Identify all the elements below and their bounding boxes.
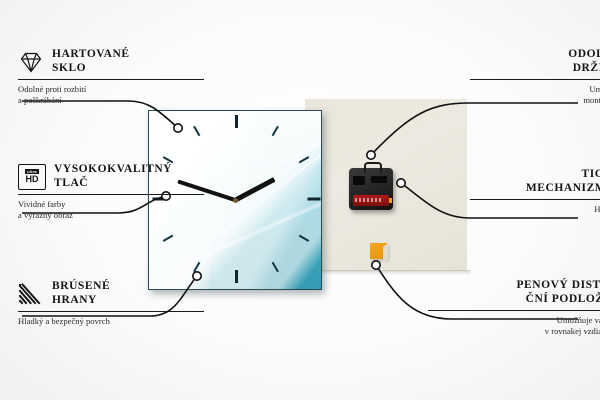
feature-title: ODOLNÝ DRŽIAK: [568, 48, 600, 75]
divider: [18, 79, 204, 80]
clock-tick: [308, 198, 321, 201]
divider: [18, 194, 204, 195]
mechanism-slot: [371, 176, 387, 183]
feature-durable-holder: ODOLNÝ DRŽIAK Umožňuje snadnou montáž ho…: [470, 48, 600, 106]
clock-tick: [235, 115, 238, 128]
feature-title: TICHÝ MECHANIZMUS: [526, 168, 600, 195]
feature-description: Hodinové ručičky bez zvuku: [470, 204, 600, 226]
ultra-hd-icon: ultra HD: [18, 164, 46, 190]
feature-header: PENOVÝ DISTAN- ČNÍ PODLOŽKY: [428, 279, 600, 306]
feature-header: HARTOVANÉ SKLO: [18, 48, 204, 75]
feature-tempered-glass: HARTOVANÉ SKLO Odolné proti rozbití a po…: [18, 48, 204, 106]
feature-polished-edges: BRÚSENÉ HRANY Hladký a bezpečný povrch: [18, 280, 204, 327]
feature-silent-mechanism: TICHÝ MECHANIZMUS Hodinové ručičky bez z…: [470, 168, 600, 226]
diagonal-stripes-icon: [18, 282, 44, 306]
feature-header: BRÚSENÉ HRANY: [18, 280, 204, 307]
feature-high-quality-print: ultra HD VYSOKOKVALITNÝ TLAČ Vividné far…: [18, 163, 204, 221]
feature-title: PENOVÝ DISTAN- ČNÍ PODLOŽKY: [516, 279, 600, 306]
aa-battery: [353, 195, 389, 206]
feature-description: Umožňuje vám držať hodiny v rovnakej vzd…: [428, 315, 600, 337]
feature-title: VYSOKOKVALITNÝ TLAČ: [54, 163, 172, 190]
divider: [428, 310, 600, 311]
feature-title: BRÚSENÉ HRANY: [52, 280, 110, 307]
divider: [18, 311, 204, 312]
feature-description: Hladký a bezpečný povrch: [18, 316, 204, 327]
diamond-icon: [18, 50, 44, 74]
feature-foam-spacers: PENOVÝ DISTAN- ČNÍ PODLOŽKY Umožňuje vám…: [428, 279, 600, 337]
clock-center-pin: [233, 198, 238, 203]
clock-tick: [235, 270, 238, 283]
mechanism-slot: [353, 176, 365, 185]
mechanism-hook: [364, 162, 382, 173]
feature-description: Odolné proti rozbití a poškrábání: [18, 84, 204, 106]
battery-label: [355, 198, 383, 202]
feature-header: ultra HD VYSOKOKVALITNÝ TLAČ: [18, 163, 204, 190]
divider: [470, 79, 600, 80]
feature-header: TICHÝ MECHANIZMUS: [470, 168, 600, 195]
clock-mechanism: [349, 168, 393, 210]
feature-header: ODOLNÝ DRŽIAK: [470, 48, 600, 75]
feature-title: HARTOVANÉ SKLO: [52, 48, 130, 75]
feature-description: Umožňuje snadnou montáž hodin na zeď: [470, 84, 600, 106]
feature-description: Vividné farby a výrazný obraz: [18, 199, 204, 221]
foam-spacer-pad: [370, 243, 387, 259]
infographic-canvas: HARTOVANÉ SKLO Odolné proti rozbití a po…: [0, 0, 600, 400]
divider: [470, 199, 600, 200]
